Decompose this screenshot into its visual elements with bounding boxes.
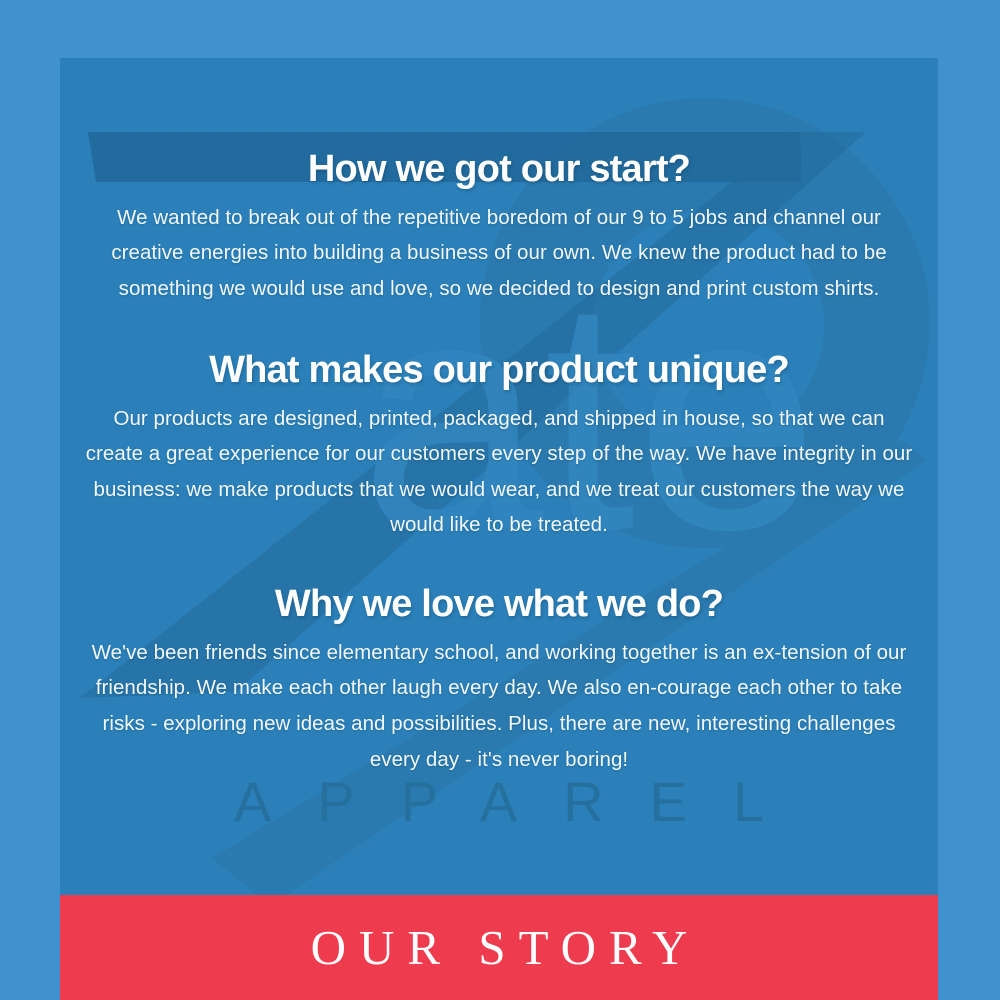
section-2-body: Our products are designed, printed, pack…: [78, 401, 920, 543]
our-story-banner: OUR STORY: [60, 895, 938, 1000]
poster-inner-panel: ate How we got our start? We wanted to b…: [60, 58, 938, 1000]
section-3-body: We've been friends since elementary scho…: [78, 635, 920, 777]
story-content: How we got our start? We wanted to break…: [60, 58, 938, 777]
section-1-body: We wanted to break out of the repetitive…: [78, 200, 920, 307]
section-1-heading: How we got our start?: [78, 150, 920, 190]
watermark-apparel-text: APPAREL: [60, 774, 938, 830]
section-3-heading: Why we love what we do?: [78, 585, 920, 625]
our-story-poster: ate How we got our start? We wanted to b…: [0, 0, 1000, 1000]
section-2-heading: What makes our product unique?: [78, 351, 920, 391]
banner-label: OUR STORY: [298, 923, 701, 972]
story-section-2: What makes our product unique? Our produ…: [60, 351, 938, 543]
story-section-1: How we got our start? We wanted to break…: [60, 150, 938, 307]
story-section-3: Why we love what we do? We've been frien…: [60, 585, 938, 777]
